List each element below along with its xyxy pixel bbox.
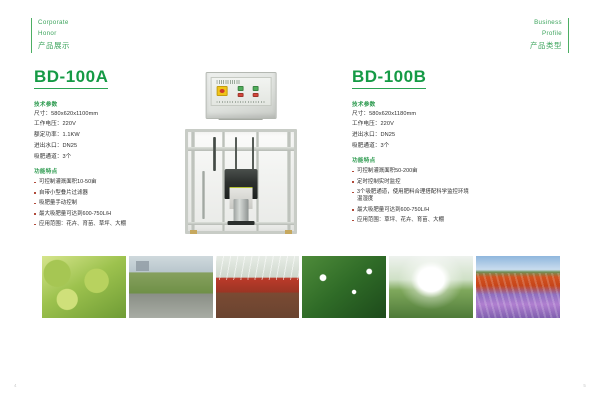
emergency-stop-button bbox=[217, 86, 228, 95]
feature-item: 应用范围：草坪、花卉、育苗、大棚 bbox=[352, 217, 474, 224]
header-right-chinese: 产品类型 bbox=[530, 40, 562, 53]
inlet-pipe bbox=[213, 137, 215, 171]
product-image-a bbox=[180, 68, 302, 236]
header-left-chinese: 产品展示 bbox=[38, 40, 70, 53]
page-number-right: 5 bbox=[583, 383, 586, 388]
pump-base bbox=[227, 221, 255, 225]
control-box bbox=[206, 72, 277, 119]
header-left: Corporate Honor 产品展示 bbox=[31, 18, 70, 53]
feature-item: 最大吸肥量可达到600-750L/H bbox=[352, 207, 474, 214]
features-label-b: 功能特点 bbox=[352, 156, 470, 164]
aluminium-frame bbox=[185, 129, 297, 235]
spec-row: 吸肥通道：3个 bbox=[34, 155, 152, 161]
indicator-lamp-green bbox=[253, 86, 259, 91]
spec-row: 进出水口：DN25 bbox=[34, 144, 152, 150]
header-right-line1: Business bbox=[530, 18, 562, 29]
field-sprinkler-photo bbox=[389, 256, 473, 318]
product-title-b: BD-100B bbox=[352, 68, 426, 89]
feature-item: 3个吸肥通道，使用肥料合理搭配科学监控环境温湿度 bbox=[352, 189, 474, 203]
suction-pipe bbox=[252, 137, 254, 173]
control-panel-face bbox=[211, 77, 272, 107]
header-right: Business Profile 产品类型 bbox=[530, 18, 569, 53]
feature-item: 可控制灌溉面积10-50亩 bbox=[34, 179, 156, 186]
spec-row: 尺寸：580x620x1180mm bbox=[352, 112, 470, 118]
features-list-a: 可控制灌溉面积10-50亩 自带小型叠片过滤器 吸肥量手动控制 最大吸肥量可达到… bbox=[34, 179, 156, 228]
frame-foot bbox=[190, 230, 197, 234]
dew-leaves-photo bbox=[302, 256, 386, 318]
feature-item: 定时控制实时监控 bbox=[352, 179, 474, 186]
lettuce-crop-photo bbox=[42, 256, 126, 318]
lawn-sprinkler-photo bbox=[129, 256, 213, 318]
pump-stage-housing bbox=[233, 199, 249, 222]
frame-post bbox=[287, 132, 291, 232]
spec-label-a: 技术参数 bbox=[34, 100, 152, 108]
spec-block-b: 技术参数 尺寸：580x620x1180mm 工作电压：220V 进出水口：DN… bbox=[352, 100, 470, 224]
booster-pump bbox=[225, 169, 258, 225]
spec-label-b: 技术参数 bbox=[352, 100, 470, 108]
spec-block-a: 技术参数 尺寸：580x620x1100mm 工作电压：220V 额定功率：1.… bbox=[34, 100, 152, 228]
outlet-pipe bbox=[202, 171, 205, 219]
tulip-field-photo bbox=[476, 256, 560, 318]
indicator-lamp-red bbox=[237, 93, 243, 98]
product-column-b: BD-100B 技术参数 尺寸：580x620x1180mm 工作电压：220V… bbox=[352, 68, 600, 228]
feature-item: 应用范围：花卉、育苗、草坪、大棚 bbox=[34, 221, 156, 228]
features-label-a: 功能特点 bbox=[34, 167, 152, 175]
feature-item: 自带小型叠片过滤器 bbox=[34, 190, 156, 197]
indicator-lamp-red bbox=[253, 93, 259, 98]
product-column-a: BD-100A 技术参数 尺寸：580x620x1100mm 工作电压：220V… bbox=[34, 68, 302, 232]
application-photo-strip bbox=[42, 256, 560, 318]
fertilizer-machine-graphic bbox=[180, 68, 302, 236]
frame-post bbox=[191, 132, 195, 232]
indicator-lamp-green bbox=[237, 86, 243, 91]
feature-item: 最大吸肥量可达到600-750L/H bbox=[34, 211, 156, 218]
panel-legend-strip bbox=[216, 101, 265, 104]
features-list-b: 可控制灌溉面积50-200亩 定时控制实时监控 3个吸肥通道，使用肥料合理搭配科… bbox=[352, 168, 474, 224]
greenhouse-flowers-photo bbox=[216, 256, 300, 318]
control-box-mount bbox=[219, 118, 263, 120]
feature-item: 吸肥量手动控制 bbox=[34, 200, 156, 207]
brand-text-mark bbox=[216, 80, 241, 84]
spec-row: 工作电压：220V bbox=[352, 122, 470, 128]
spec-row: 吸肥通道：3个 bbox=[352, 144, 470, 150]
header-left-line2: Honor bbox=[38, 29, 70, 40]
header-right-line2: Profile bbox=[530, 29, 562, 40]
spec-row: 额定功率：1.1KW bbox=[34, 133, 152, 139]
feature-item: 可控制灌溉面积50-200亩 bbox=[352, 168, 474, 175]
product-title-a: BD-100A bbox=[34, 68, 108, 89]
header-left-line1: Corporate bbox=[38, 18, 70, 29]
spec-row: 工作电压：220V bbox=[34, 122, 152, 128]
frame-foot bbox=[285, 230, 292, 234]
brochure-page: Corporate Honor 产品展示 Business Profile 产品… bbox=[0, 0, 600, 410]
frame-rail bbox=[188, 147, 294, 151]
spec-row: 进出水口：DN25 bbox=[352, 133, 470, 139]
page-number-left: 4 bbox=[14, 383, 17, 388]
spec-row: 尺寸：580x620x1100mm bbox=[34, 112, 152, 118]
